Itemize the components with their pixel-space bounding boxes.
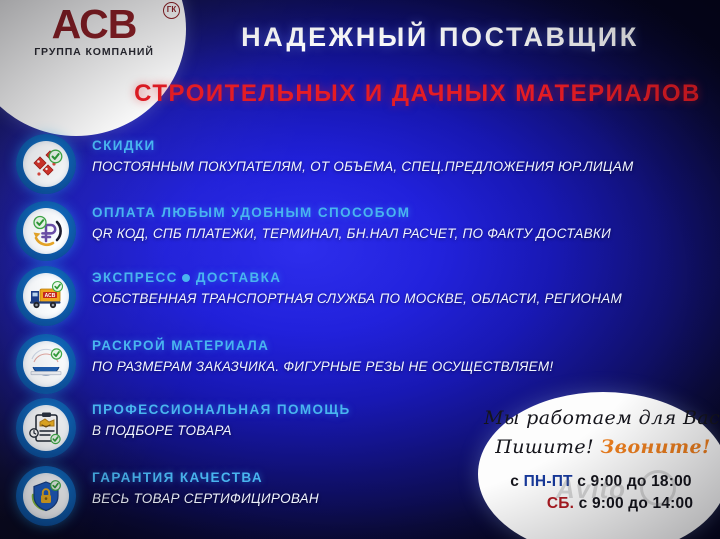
logo-wordmark: АСВ (14, 4, 174, 44)
feature-title: РАСКРОЙ МАТЕРИАЛА (92, 338, 553, 353)
feature-text: РАСКРОЙ МАТЕРИАЛА ПО РАЗМЕРАМ ЗАКАЗЧИКА.… (92, 338, 553, 374)
feature-subtitle: СОБСТВЕННАЯ ТРАНСПОРТНАЯ СЛУЖБА ПО МОСКВ… (92, 291, 622, 306)
feature-subtitle: ПО РАЗМЕРАМ ЗАКАЗЧИКА. ФИГУРНЫЕ РЕЗЫ НЕ … (92, 359, 553, 374)
callout-cta: Пишите! Звоните! (484, 432, 720, 462)
contact-callout: Мы работаем для Вас! Пишите! Звоните! с … (484, 404, 720, 515)
feature-icon-badge (16, 134, 76, 194)
feature-text: ОПЛАТА ЛЮБЫМ УДОБНЫМ СПОСОБОМ QR КОД, СП… (92, 205, 611, 241)
callout-call-label: Звоните! (600, 436, 710, 458)
hours-saturday-time: с 9:00 до 14:00 (579, 495, 694, 512)
callout-write-label: Пишите! (495, 436, 594, 458)
feature-icon-badge (16, 201, 76, 261)
feature-icon-badge (16, 334, 76, 394)
logo-gk-badge-icon: ГК (163, 2, 180, 19)
feature-title: ПРОФЕССИОНАЛЬНАЯ ПОМОЩЬ (92, 402, 351, 417)
headline-secondary: СТРОИТЕЛЬНЫХ И ДАЧНЫХ МАТЕРИАЛОВ (120, 80, 715, 108)
saw-blade-cutting-icon (23, 341, 69, 387)
company-logo: АСВ ГК ГРУППА КОМПАНИЙ (14, 4, 174, 66)
hours-saturday-days: СБ. (547, 495, 574, 512)
feature-row-payment: ОПЛАТА ЛЮБЫМ УДОБНЫМ СПОСОБОМ QR КОД, СП… (16, 201, 716, 261)
feature-text: ПРОФЕССИОНАЛЬНАЯ ПОМОЩЬ В ПОДБОРЕ ТОВАРА (92, 402, 351, 438)
callout-slogan: Мы работаем для Вас! (484, 404, 720, 432)
feature-title: ЭКСПРЕССДОСТАВКА (92, 270, 622, 285)
ruble-payment-icon (23, 208, 69, 254)
shield-lock-icon (23, 473, 69, 519)
promo-banner: АСВ ГК ГРУППА КОМПАНИЙ НАДЕЖНЫЙ ПОСТАВЩИ… (0, 0, 720, 539)
feature-row-discounts: СКИДКИ ПОСТОЯННЫМ ПОКУПАТЕЛЯМ, ОТ ОБЪЕМА… (16, 134, 716, 194)
feature-row-delivery: АСВ ЭКСПРЕССДОСТАВКА СОБСТВЕННАЯ ТРАНСПО… (16, 266, 716, 326)
hours-weekday-prefix: с (510, 473, 519, 490)
feature-row-cutting: РАСКРОЙ МАТЕРИАЛА ПО РАЗМЕРАМ ЗАКАЗЧИКА.… (16, 334, 716, 394)
feature-title: ОПЛАТА ЛЮБЫМ УДОБНЫМ СПОСОБОМ (92, 205, 611, 220)
feature-title-part1: ЭКСПРЕСС (92, 270, 178, 285)
headline-primary: НАДЕЖНЫЙ ПОСТАВЩИК (170, 22, 710, 53)
feature-subtitle: ПОСТОЯННЫМ ПОКУПАТЕЛЯМ, ОТ ОБЪЕМА, СПЕЦ.… (92, 159, 634, 174)
feature-text: ГАРАНТИЯ КАЧЕСТВА ВЕСЬ ТОВАР СЕРТИФИЦИРО… (92, 470, 319, 506)
delivery-truck-icon: АСВ (23, 273, 69, 319)
feature-title: ГАРАНТИЯ КАЧЕСТВА (92, 470, 319, 485)
feature-subtitle: В ПОДБОРЕ ТОВАРА (92, 423, 351, 438)
svg-text:АСВ: АСВ (45, 293, 56, 299)
hours-weekday-days: ПН-ПТ (524, 473, 573, 490)
discount-tags-icon (23, 141, 69, 187)
hours-saturday: СБ. с 9:00 до 14:00 (484, 493, 720, 515)
bullet-separator-icon (182, 274, 190, 282)
feature-subtitle: QR КОД, СПБ ПЛАТЕЖИ, ТЕРМИНАЛ, БН.НАЛ РА… (92, 226, 611, 241)
feature-subtitle: ВЕСЬ ТОВАР СЕРТИФИЦИРОВАН (92, 491, 319, 506)
feature-icon-badge (16, 398, 76, 458)
feature-title: СКИДКИ (92, 138, 634, 153)
clipboard-handshake-icon (23, 405, 69, 451)
feature-icon-badge: АСВ (16, 266, 76, 326)
logo-subtitle: ГРУППА КОМПАНИЙ (14, 46, 174, 58)
hours-weekday: с ПН-ПТ с 9:00 до 18:00 (484, 471, 720, 493)
feature-text: ЭКСПРЕССДОСТАВКА СОБСТВЕННАЯ ТРАНСПОРТНА… (92, 270, 622, 306)
feature-text: СКИДКИ ПОСТОЯННЫМ ПОКУПАТЕЛЯМ, ОТ ОБЪЕМА… (92, 138, 634, 174)
feature-title-part2: ДОСТАВКА (196, 270, 282, 285)
feature-icon-badge (16, 466, 76, 526)
hours-weekday-time: с 9:00 до 18:00 (577, 473, 692, 490)
